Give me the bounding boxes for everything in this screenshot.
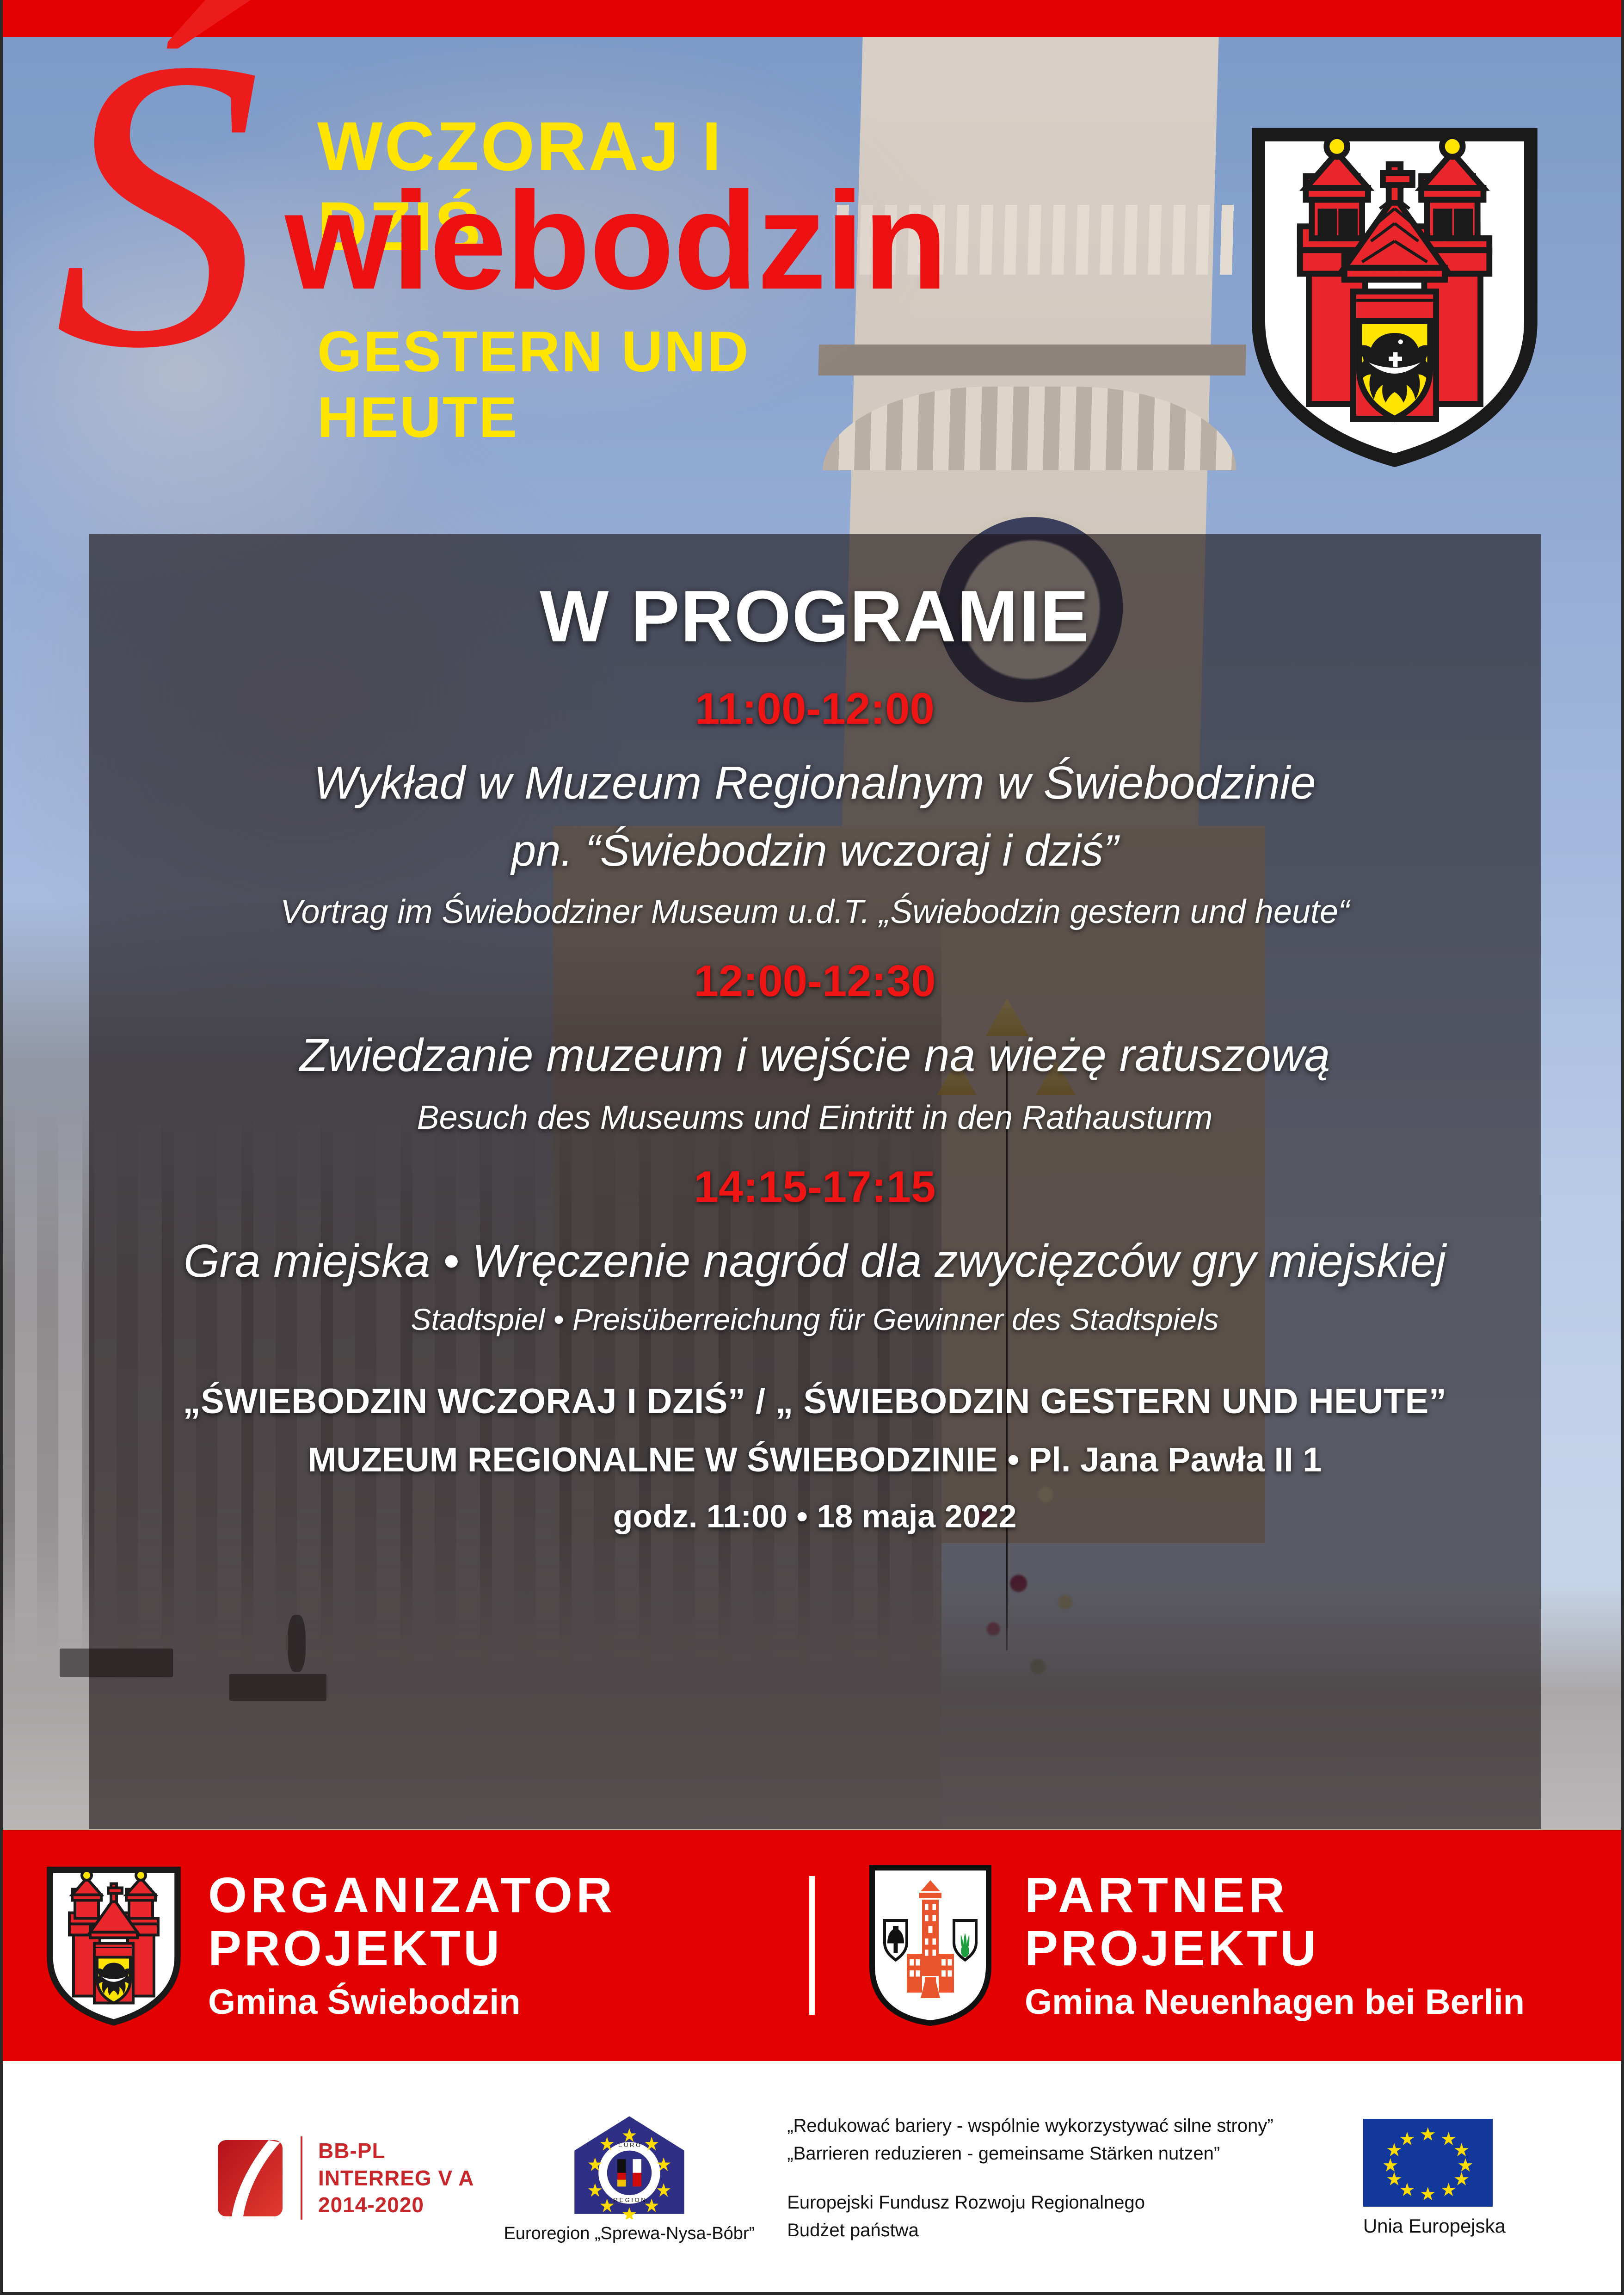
interreg-line1: BB-PL (318, 2137, 474, 2165)
program-de-2: Besuch des Museums und Eintritt in den R… (89, 1099, 1541, 1137)
project-slogan-block: „Redukować bariery - wspólnie wykorzysty… (787, 2112, 1273, 2244)
program-time-3: 14:15-17:15 (89, 1162, 1541, 1212)
interreg-logo-block: BB-PL INTERREG V A 2014-2020 (215, 2136, 474, 2220)
program-panel: W PROGRAMIE 11:00-12:00 Wykład w Muzeum … (89, 534, 1541, 1829)
logo-tagline-de: GESTERN UND HEUTE (317, 319, 895, 450)
logo-initial-s: Ś (54, 37, 262, 370)
eu-flag-caption: Unia Europejska (1363, 2215, 1506, 2237)
slogan-pl: „Redukować bariery - wspólnie wykorzysty… (787, 2112, 1273, 2140)
band-divider (809, 1876, 815, 2015)
interreg-text: BB-PL INTERREG V A 2014-2020 (318, 2137, 474, 2219)
coat-of-arms-swiebodzin-small-icon (44, 1853, 183, 2038)
venue-title: „ŚWIEBODZIN WCZORAJ I DZIŚ” / „ ŚWIEBODZ… (89, 1381, 1541, 1421)
euroregion-block: E U R O R E G I O N Euroregion „Sprewa-N… (504, 2113, 755, 2244)
euroregion-ring-bottom: R E G I O N (613, 2196, 645, 2203)
partner-role-line1: PARTNER (1025, 1869, 1525, 1921)
program-de-1: Vortrag im Świebodziner Museum u.d.T. „Ś… (89, 893, 1541, 931)
fund-line1: Europejski Fundusz Rozwoju Regionalnego (787, 2189, 1273, 2216)
coat-of-arms-neuenhagen-icon (861, 1853, 1000, 2038)
venue-place: MUZEUM REGIONALNE W ŚWIEBODZINIE • Pl. J… (89, 1440, 1541, 1479)
partner-role-line2: PROJEKTU (1025, 1922, 1525, 1975)
interreg-line2: INTERREG V A (318, 2165, 474, 2192)
program-time-1: 11:00-12:00 (89, 683, 1541, 734)
interreg-mark-icon (215, 2138, 285, 2219)
logo-lockup: Ś WCZORAJ I DZIŚ wiebodzin GESTERN UND H… (54, 55, 895, 462)
organizer-text: ORGANIZATOR PROJEKTU Gmina Świebodzin (208, 1869, 616, 2022)
program-heading: W PROGRAMIE (89, 575, 1541, 658)
euroregion-caption: Euroregion „Sprewa-Nysa-Bóbr” (504, 2224, 755, 2244)
eu-flag-icon: ★ ★ ★ ★ ★ ★ ★ ★ ★ ★ ★ ★ (1363, 2119, 1493, 2207)
eu-flag-block: ★ ★ ★ ★ ★ ★ ★ ★ ★ ★ ★ ★ Unia Europejska (1363, 2119, 1506, 2237)
program-pl-1b: pn. “Świebodzin wczoraj i dziś” (89, 825, 1541, 876)
program-time-2: 12:00-12:30 (89, 956, 1541, 1007)
organizer-entity: Gmina Świebodzin (208, 1982, 616, 2022)
partner-entity: Gmina Neuenhagen bei Berlin (1025, 1982, 1525, 2022)
partner-block: PARTNER PROJEKTU Gmina Neuenhagen bei Be… (819, 1853, 1621, 2038)
fund-line2: Budżet państwa (787, 2216, 1273, 2244)
interreg-line3: 2014-2020 (318, 2191, 474, 2219)
euroregion-logo-icon: E U R O R E G I O N (569, 2113, 689, 2219)
logo-wordmark: wiebodzin (285, 171, 947, 310)
organizer-block: ORGANIZATOR PROJEKTU Gmina Świebodzin (3, 1853, 805, 2038)
program-pl-2a: Zwiedzanie muzeum i wejście na wieżę rat… (89, 1029, 1541, 1082)
program-pl-1a: Wykład w Muzeum Regionalnym w Świebodzin… (89, 757, 1541, 810)
eu-funding-footer: BB-PL INTERREG V A 2014-2020 (3, 2061, 1621, 2295)
coat-of-arms-swiebodzin-icon (1247, 125, 1543, 467)
organizer-role-line1: ORGANIZATOR (208, 1869, 616, 1921)
partner-text: PARTNER PROJEKTU Gmina Neuenhagen bei Be… (1025, 1869, 1525, 2022)
organizer-role-line2: PROJEKTU (208, 1922, 616, 1975)
interreg-rule (301, 2136, 302, 2220)
slogan-spacer (787, 2167, 1273, 2189)
slogan-de: „Barrieren reduzieren - gemeinsame Stärk… (787, 2140, 1273, 2167)
venue-datetime: godz. 11:00 • 18 maja 2022 (89, 1498, 1541, 1535)
program-de-3: Stadtspiel • Preisüberreichung für Gewin… (89, 1302, 1541, 1337)
program-pl-3a: Gra miejska • Wręczenie nagród dla zwyci… (89, 1235, 1541, 1288)
euroregion-ring-top: E U R O (618, 2141, 640, 2148)
poster-root: Ś WCZORAJ I DZIŚ wiebodzin GESTERN UND H… (0, 0, 1624, 2295)
organizer-partner-band: ORGANIZATOR PROJEKTU Gmina Świebodzin (3, 1830, 1621, 2061)
